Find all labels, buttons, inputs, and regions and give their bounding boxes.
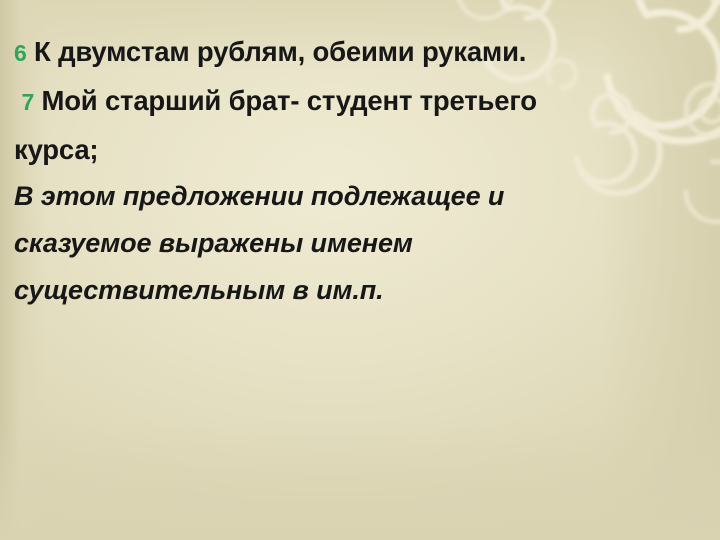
item-marker-6: 6 bbox=[14, 40, 27, 66]
item-text-7: Мой старший брат- студент третьего bbox=[42, 85, 537, 116]
item-7-continuation: курса; bbox=[14, 126, 708, 173]
background-bottom-shading bbox=[0, 420, 720, 540]
item-marker-7: 7 bbox=[21, 89, 34, 115]
explanation-line-3: существительным в им.п. bbox=[14, 267, 708, 314]
slide-text-body: 6 К двумстам рублям, обеими руками. 7 Мо… bbox=[14, 28, 708, 314]
numbered-item-7: 7 Мой старший брат- студент третьего bbox=[14, 77, 708, 126]
explanation-line-1: В этом предложении подлежащее и bbox=[14, 173, 708, 220]
presentation-slide: 6 К двумстам рублям, обеими руками. 7 Мо… bbox=[0, 0, 720, 540]
numbered-item-6: 6 К двумстам рублям, обеими руками. bbox=[14, 28, 708, 77]
explanation-line-2: сказуемое выражены именем bbox=[14, 220, 708, 267]
item-text-6: К двумстам рублям, обеими руками. bbox=[34, 36, 526, 67]
